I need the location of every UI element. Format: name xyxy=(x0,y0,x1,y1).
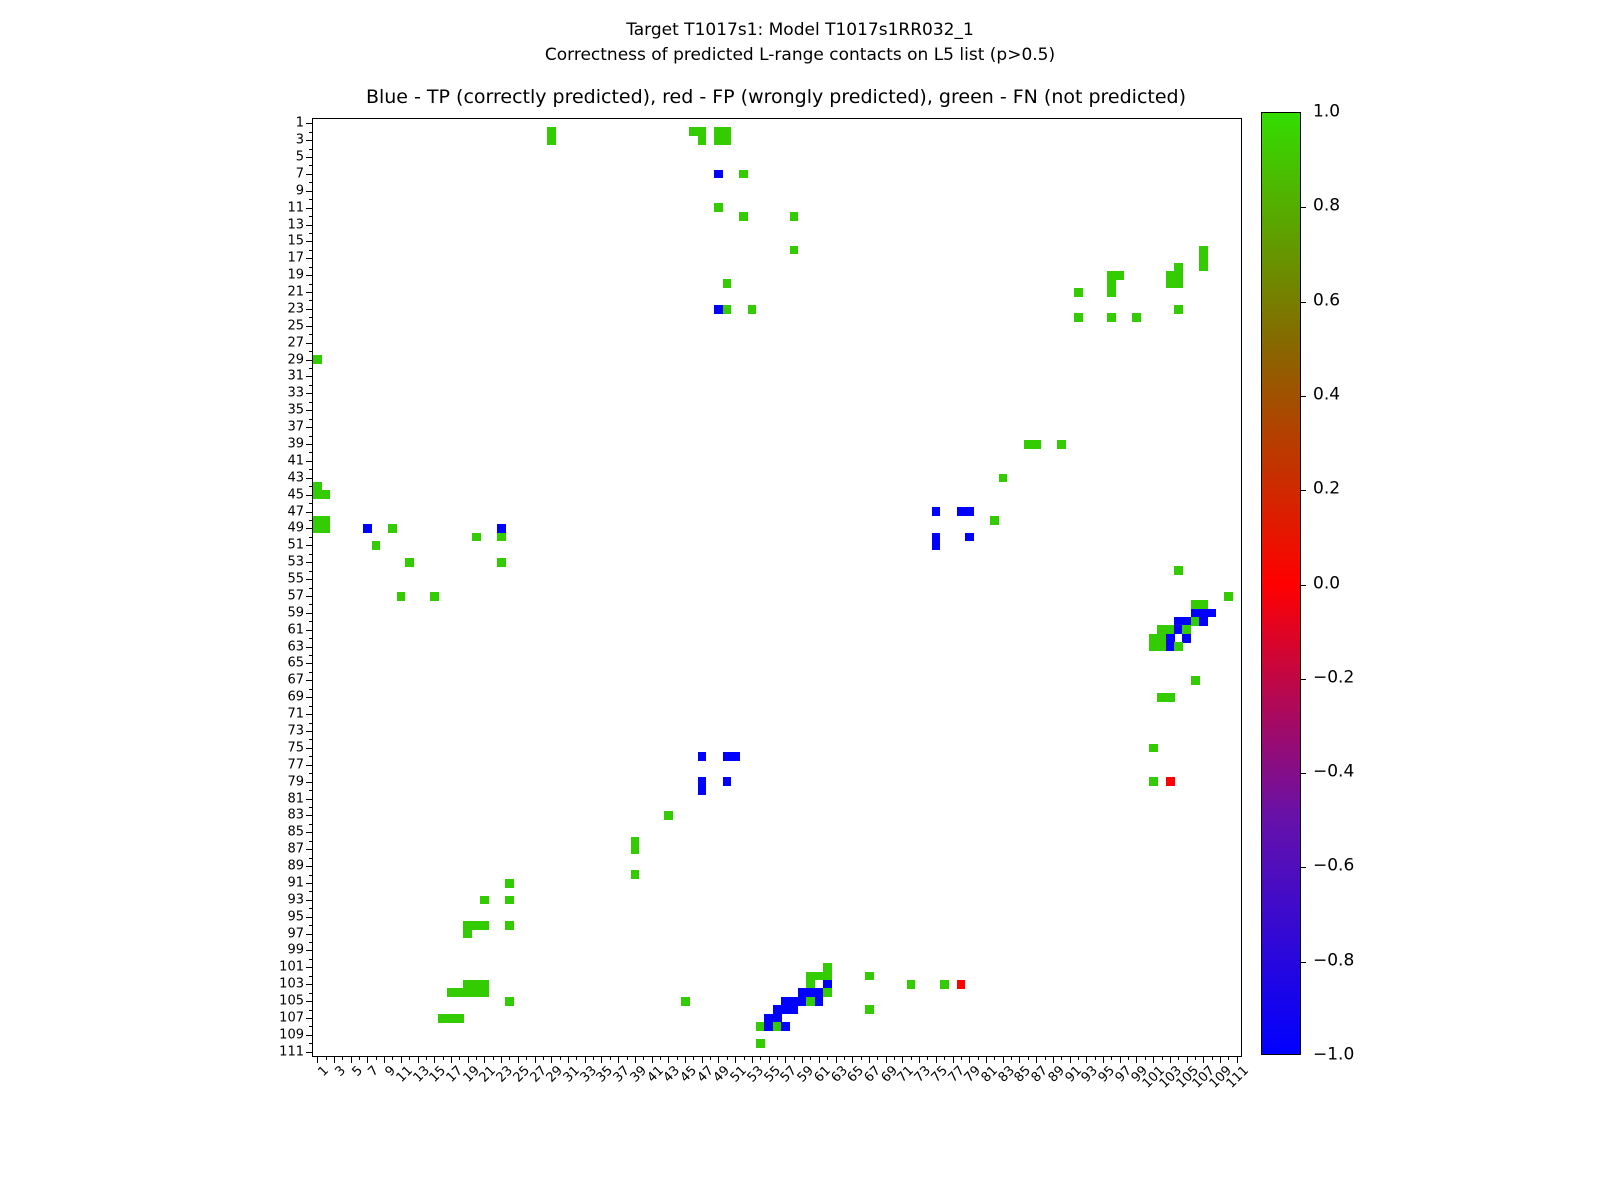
y-axis-tick xyxy=(309,165,313,166)
x-axis-tick xyxy=(911,1056,912,1060)
contact-cell xyxy=(1166,271,1175,288)
contact-cell xyxy=(957,980,966,989)
y-axis-tick xyxy=(309,588,313,589)
y-axis-tick-label: 61 xyxy=(287,623,304,636)
x-axis-tick xyxy=(1128,1056,1129,1060)
y-axis-tick-label: 17 xyxy=(287,252,304,265)
colorbar-tick xyxy=(1300,207,1306,208)
contact-cell xyxy=(313,516,330,533)
contact-cell xyxy=(781,1022,790,1031)
x-axis-tick xyxy=(927,1056,928,1060)
y-axis-tick xyxy=(309,419,313,420)
x-axis-tick xyxy=(660,1056,661,1060)
x-axis-tick-label: 1 xyxy=(316,1064,331,1079)
x-axis-tick xyxy=(1028,1056,1029,1060)
y-axis-tick xyxy=(306,512,313,513)
colorbar-tick-label: −0.2 xyxy=(1313,669,1354,686)
y-axis-tick xyxy=(306,528,313,529)
y-axis-tick-label: 29 xyxy=(287,353,304,366)
contact-cell xyxy=(723,279,732,288)
y-axis-tick xyxy=(309,317,313,318)
x-axis-tick xyxy=(994,1056,995,1060)
x-axis-tick xyxy=(785,1056,786,1063)
y-axis-tick-label: 51 xyxy=(287,539,304,552)
contact-cell xyxy=(1107,279,1116,296)
y-axis-tick-label: 89 xyxy=(287,860,304,873)
contact-cell xyxy=(1024,440,1041,449)
contact-cell xyxy=(631,870,640,879)
colorbar-tick-label: 0.2 xyxy=(1313,481,1340,498)
y-axis-tick xyxy=(306,731,313,732)
x-axis-tick xyxy=(652,1056,653,1063)
x-axis-tick xyxy=(384,1056,385,1063)
colorbar-tick xyxy=(1300,396,1306,397)
contact-cell xyxy=(313,490,330,499)
y-axis-tick xyxy=(309,334,313,335)
y-axis-tick-label: 37 xyxy=(287,421,304,434)
contact-cell xyxy=(790,246,799,255)
y-axis-tick xyxy=(306,427,313,428)
x-axis-tick xyxy=(1178,1056,1179,1060)
contact-cell xyxy=(1132,313,1141,322)
contact-cell xyxy=(1149,642,1166,651)
y-axis-tick-label: 57 xyxy=(287,589,304,602)
y-axis-tick xyxy=(306,157,313,158)
y-axis-tick xyxy=(306,849,313,850)
x-axis-tick xyxy=(342,1056,343,1060)
x-axis-tick xyxy=(744,1056,745,1060)
y-axis-tick xyxy=(309,993,313,994)
x-axis-tick xyxy=(710,1056,711,1060)
x-axis-tick xyxy=(434,1056,435,1063)
y-axis-tick xyxy=(309,368,313,369)
colorbar-tick xyxy=(1300,490,1306,491)
x-axis-tick xyxy=(359,1056,360,1060)
x-axis-tick xyxy=(944,1056,945,1060)
y-axis-tick-label: 1 xyxy=(296,117,304,130)
y-axis-tick xyxy=(309,604,313,605)
x-axis-tick xyxy=(969,1056,970,1063)
y-axis-tick xyxy=(306,613,313,614)
x-axis-tick xyxy=(476,1056,477,1060)
y-axis-tick xyxy=(306,967,313,968)
y-axis-tick-label: 101 xyxy=(279,961,304,974)
contact-cell xyxy=(497,558,506,567)
colorbar-tick xyxy=(1300,962,1306,963)
y-axis-tick-label: 93 xyxy=(287,893,304,906)
contact-cell xyxy=(372,541,381,550)
y-axis-tick-label: 3 xyxy=(296,134,304,147)
y-axis-tick xyxy=(306,1018,313,1019)
y-axis-tick-label: 13 xyxy=(287,218,304,231)
contact-cell xyxy=(681,997,690,1006)
contact-cell xyxy=(790,212,799,221)
y-axis-tick xyxy=(306,883,313,884)
y-axis-tick-label: 111 xyxy=(279,1045,304,1058)
colorbar-tick-label: 0.4 xyxy=(1313,386,1340,403)
colorbar-gradient xyxy=(1261,112,1301,1055)
y-axis-tick-label: 49 xyxy=(287,522,304,535)
contact-cell xyxy=(631,837,640,854)
y-axis-tick xyxy=(309,672,313,673)
x-axis-tick xyxy=(727,1056,728,1060)
y-axis-tick xyxy=(309,267,313,268)
y-axis-tick xyxy=(309,689,313,690)
contact-cell xyxy=(1199,246,1208,272)
colorbar-tick-label: −0.8 xyxy=(1313,952,1354,969)
y-axis-tick xyxy=(309,638,313,639)
y-axis-tick xyxy=(306,934,313,935)
y-axis-tick xyxy=(309,858,313,859)
x-axis-tick xyxy=(802,1056,803,1063)
x-axis-tick xyxy=(468,1056,469,1063)
y-axis-tick xyxy=(306,748,313,749)
y-axis-tick xyxy=(309,621,313,622)
y-axis-tick-label: 7 xyxy=(296,167,304,180)
contact-cell xyxy=(748,305,757,314)
x-axis-tick xyxy=(1095,1056,1096,1060)
contact-map-cells xyxy=(313,119,1241,1056)
contact-cell xyxy=(505,896,514,905)
contact-cell xyxy=(714,127,731,144)
contact-cell xyxy=(1199,617,1208,626)
x-axis-tick xyxy=(794,1056,795,1060)
y-axis-tick xyxy=(309,149,313,150)
x-axis-tick xyxy=(451,1056,452,1063)
x-axis-tick xyxy=(1153,1056,1154,1063)
x-axis-tick-label: 5 xyxy=(350,1064,365,1079)
contact-cell xyxy=(698,777,707,794)
y-axis-tick xyxy=(309,773,313,774)
colorbar-tick xyxy=(1300,679,1306,680)
x-axis-tick xyxy=(1136,1056,1137,1063)
colorbar-tick-label: 0.8 xyxy=(1313,198,1340,215)
colorbar-tick xyxy=(1300,302,1306,303)
x-axis-tick xyxy=(426,1056,427,1060)
y-axis-tick xyxy=(309,706,313,707)
x-axis-tick xyxy=(1120,1056,1121,1063)
x-axis-tick xyxy=(718,1056,719,1063)
x-axis-tick xyxy=(509,1056,510,1060)
x-axis-tick xyxy=(861,1056,862,1060)
contact-cell xyxy=(723,752,740,761)
y-axis-tick xyxy=(309,486,313,487)
y-axis-tick xyxy=(306,866,313,867)
contact-cell xyxy=(756,1039,765,1048)
x-axis-tick xyxy=(685,1056,686,1063)
contact-cell xyxy=(1182,634,1191,643)
x-axis-tick xyxy=(1086,1056,1087,1063)
contact-cell xyxy=(1208,609,1217,618)
x-axis-tick xyxy=(459,1056,460,1060)
contact-cell xyxy=(698,136,707,145)
y-axis-tick-label: 15 xyxy=(287,235,304,248)
contact-cell xyxy=(940,980,949,989)
contact-cell xyxy=(1157,693,1174,702)
y-axis-tick xyxy=(306,444,313,445)
contact-cell xyxy=(790,1005,799,1014)
figure-suptitle: Target T1017s1: Model T1017s1RR032_1 Cor… xyxy=(0,18,1600,68)
y-axis-tick-label: 11 xyxy=(287,201,304,214)
contact-cell xyxy=(865,1005,874,1014)
y-axis-tick xyxy=(306,714,313,715)
y-axis-tick xyxy=(309,824,313,825)
x-axis-tick xyxy=(518,1056,519,1063)
y-axis-tick xyxy=(306,1052,313,1053)
y-axis-tick-label: 95 xyxy=(287,910,304,923)
y-axis-tick xyxy=(306,461,313,462)
y-axis-tick-label: 109 xyxy=(279,1028,304,1041)
x-axis-tick xyxy=(376,1056,377,1060)
contact-cell xyxy=(1174,263,1183,289)
y-axis-tick xyxy=(306,275,313,276)
y-axis-tick xyxy=(306,241,313,242)
y-axis-tick-label: 31 xyxy=(287,370,304,383)
contact-cell xyxy=(480,896,489,905)
y-axis-tick-label: 69 xyxy=(287,691,304,704)
x-axis-tick xyxy=(986,1056,987,1063)
y-axis-tick xyxy=(306,900,313,901)
x-axis-tick xyxy=(576,1056,577,1060)
x-axis-tick xyxy=(535,1056,536,1063)
y-axis-tick xyxy=(309,402,313,403)
x-axis-tick xyxy=(392,1056,393,1060)
x-axis-tick xyxy=(1212,1056,1213,1060)
colorbar-tick xyxy=(1300,867,1306,868)
y-axis-tick-label: 97 xyxy=(287,927,304,940)
x-axis-tick xyxy=(443,1056,444,1060)
y-axis-tick xyxy=(306,208,313,209)
contact-cell xyxy=(1074,288,1083,297)
y-axis-tick-label: 73 xyxy=(287,725,304,738)
y-axis-tick-label: 5 xyxy=(296,150,304,163)
colorbar-tick-label: 0.0 xyxy=(1313,575,1340,592)
contact-cell xyxy=(932,507,941,516)
contact-cell xyxy=(1074,313,1083,322)
y-axis-tick xyxy=(306,782,313,783)
y-axis-tick xyxy=(306,393,313,394)
x-axis-tick xyxy=(1145,1056,1146,1060)
y-axis-tick xyxy=(309,976,313,977)
x-axis-tick xyxy=(551,1056,552,1063)
y-axis-tick xyxy=(306,984,313,985)
y-axis-tick xyxy=(306,360,313,361)
colorbar-tick-label: −1.0 xyxy=(1313,1047,1354,1064)
contact-cell xyxy=(664,811,673,820)
y-axis-tick xyxy=(309,300,313,301)
x-axis-tick xyxy=(894,1056,895,1060)
contact-cell xyxy=(698,752,707,761)
x-axis-tick xyxy=(1195,1056,1196,1060)
axes-title: Blue - TP (correctly predicted), red - F… xyxy=(312,86,1240,108)
y-axis-tick xyxy=(309,199,313,200)
contact-cell xyxy=(405,558,414,567)
x-axis-tick xyxy=(409,1056,410,1060)
y-axis-tick-label: 45 xyxy=(287,488,304,501)
x-axis-tick xyxy=(501,1056,502,1063)
y-axis-tick xyxy=(309,1043,313,1044)
contact-cell xyxy=(472,533,481,542)
x-axis-tick xyxy=(334,1056,335,1063)
y-axis-tick xyxy=(306,309,313,310)
y-axis-tick xyxy=(306,630,313,631)
x-axis-tick xyxy=(677,1056,678,1060)
contact-cell xyxy=(547,127,556,144)
colorbar-tick-label: 0.6 xyxy=(1313,292,1340,309)
contact-cell xyxy=(1149,744,1158,753)
colorbar-tick-label: 1.0 xyxy=(1313,104,1340,121)
x-axis-tick xyxy=(317,1056,318,1063)
x-axis-tick xyxy=(1203,1056,1204,1063)
y-axis-tick xyxy=(306,292,313,293)
y-axis-tick xyxy=(309,925,313,926)
colorbar-tick xyxy=(1300,585,1306,586)
y-axis-tick-label: 27 xyxy=(287,336,304,349)
x-axis-tick xyxy=(618,1056,619,1063)
y-axis-tick xyxy=(309,132,313,133)
colorbar-tick-label: −0.6 xyxy=(1313,858,1354,875)
x-axis-tick xyxy=(852,1056,853,1063)
y-axis-tick-label: 81 xyxy=(287,792,304,805)
y-axis-tick xyxy=(309,503,313,504)
contact-cell xyxy=(313,355,322,364)
y-axis-tick-label: 105 xyxy=(279,995,304,1008)
contact-cell xyxy=(723,305,732,314)
y-axis-tick xyxy=(309,942,313,943)
x-axis-tick xyxy=(1019,1056,1020,1063)
x-axis-tick xyxy=(1111,1056,1112,1060)
contact-cell xyxy=(1191,676,1200,685)
x-axis-tick xyxy=(1003,1056,1004,1063)
contact-cell xyxy=(965,533,974,542)
y-axis-tick xyxy=(306,495,313,496)
y-axis-tick xyxy=(309,436,313,437)
y-axis-tick-label: 75 xyxy=(287,741,304,754)
y-axis-tick xyxy=(309,520,313,521)
y-axis-tick xyxy=(306,596,313,597)
y-axis-tick xyxy=(309,537,313,538)
x-axis-tick xyxy=(902,1056,903,1063)
x-axis-tick xyxy=(919,1056,920,1063)
y-axis-tick xyxy=(309,233,313,234)
contact-cell xyxy=(957,507,974,516)
contact-cell xyxy=(865,972,874,981)
y-axis-tick xyxy=(306,663,313,664)
y-axis-tick xyxy=(306,697,313,698)
x-axis-tick xyxy=(760,1056,761,1060)
y-axis-tick-label: 43 xyxy=(287,471,304,484)
y-axis-tick xyxy=(306,545,313,546)
y-axis-tick xyxy=(306,815,313,816)
y-axis-tick xyxy=(309,351,313,352)
x-axis-tick xyxy=(1070,1056,1071,1063)
y-axis-tick-label: 39 xyxy=(287,437,304,450)
y-axis-tick-label: 53 xyxy=(287,556,304,569)
contact-cell xyxy=(388,524,397,533)
y-axis-tick-label: 59 xyxy=(287,606,304,619)
y-axis-tick-label: 107 xyxy=(279,1012,304,1025)
x-axis-tick xyxy=(601,1056,602,1063)
y-axis-tick xyxy=(309,571,313,572)
contact-cell xyxy=(505,879,514,888)
y-axis-tick xyxy=(306,917,313,918)
y-axis-tick xyxy=(309,841,313,842)
x-axis-tick xyxy=(367,1056,368,1063)
x-axis-tick-label: 7 xyxy=(366,1064,381,1079)
x-axis-tick xyxy=(1036,1056,1037,1063)
contact-cell xyxy=(739,170,748,179)
x-axis-tick xyxy=(1061,1056,1062,1060)
y-axis-tick xyxy=(306,765,313,766)
y-axis-tick-label: 87 xyxy=(287,843,304,856)
x-axis-tick xyxy=(351,1056,352,1063)
contact-cell xyxy=(463,980,488,997)
y-axis-tick xyxy=(306,225,313,226)
contact-cell xyxy=(723,777,732,786)
y-axis-tick xyxy=(306,140,313,141)
contact-cell xyxy=(1174,566,1183,575)
y-axis-tick xyxy=(309,216,313,217)
colorbar-tick-label: −0.4 xyxy=(1313,764,1354,781)
contact-cell xyxy=(714,170,723,179)
x-axis-tick xyxy=(401,1056,402,1063)
x-axis-tick xyxy=(978,1056,979,1060)
x-axis-tick xyxy=(1228,1056,1229,1060)
x-axis-tick xyxy=(1187,1056,1188,1063)
y-axis-tick-label: 79 xyxy=(287,775,304,788)
y-axis-tick-label: 85 xyxy=(287,826,304,839)
y-axis-tick-label: 35 xyxy=(287,404,304,417)
y-axis-tick-label: 23 xyxy=(287,302,304,315)
y-axis-tick-label: 67 xyxy=(287,674,304,687)
y-axis-tick xyxy=(306,680,313,681)
contact-cell xyxy=(1174,305,1183,314)
x-axis-tick xyxy=(886,1056,887,1063)
x-axis-tick xyxy=(877,1056,878,1060)
y-axis-tick-label: 91 xyxy=(287,876,304,889)
x-axis-tick xyxy=(844,1056,845,1060)
contact-cell xyxy=(739,212,748,221)
contact-cell xyxy=(505,921,514,930)
y-axis-tick-label: 63 xyxy=(287,640,304,653)
contact-cell xyxy=(999,474,1008,483)
y-axis-tick xyxy=(309,452,313,453)
y-axis-tick-label: 21 xyxy=(287,286,304,299)
y-axis-tick xyxy=(309,739,313,740)
contact-cell xyxy=(990,516,999,525)
y-axis-tick xyxy=(306,174,313,175)
suptitle-line-2: Correctness of predicted L-range contact… xyxy=(0,43,1600,68)
y-axis-tick xyxy=(309,655,313,656)
y-axis-tick xyxy=(306,410,313,411)
x-axis-tick xyxy=(627,1056,628,1060)
x-axis-tick xyxy=(777,1056,778,1060)
contact-cell xyxy=(714,203,723,212)
x-axis-tick xyxy=(1045,1056,1046,1060)
y-axis-tick xyxy=(309,908,313,909)
x-axis-tick xyxy=(1103,1056,1104,1063)
x-axis-tick xyxy=(418,1056,419,1063)
x-axis-tick xyxy=(610,1056,611,1060)
contact-cell xyxy=(497,533,506,542)
contact-cell xyxy=(1224,592,1233,601)
y-axis-tick xyxy=(306,326,313,327)
contact-map-plot[interactable]: 1133557799111113131515171719192121232325… xyxy=(312,118,1242,1057)
x-axis-tick xyxy=(326,1056,327,1060)
x-axis-tick xyxy=(668,1056,669,1063)
suptitle-line-1: Target T1017s1: Model T1017s1RR032_1 xyxy=(0,18,1600,43)
x-axis-tick xyxy=(936,1056,937,1063)
